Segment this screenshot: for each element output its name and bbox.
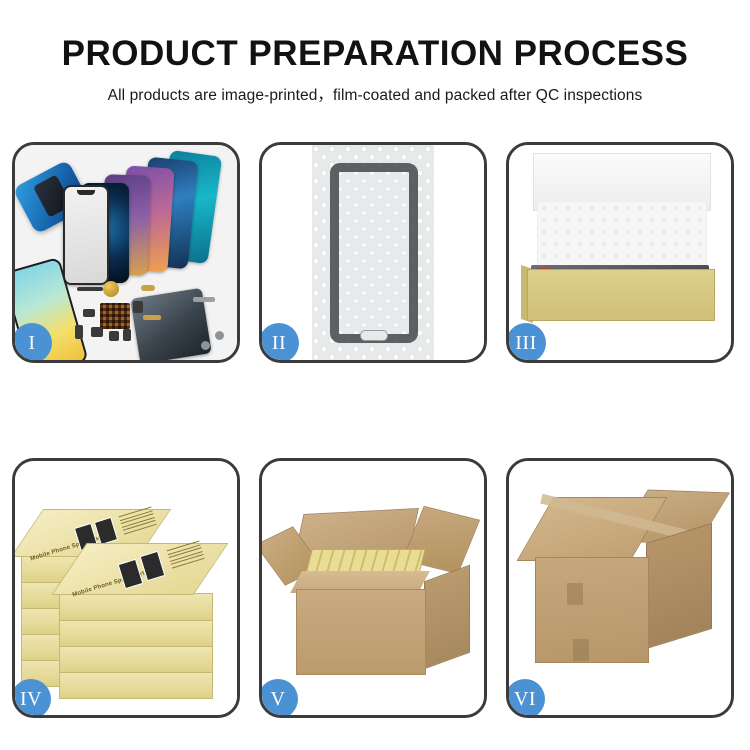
connector-grid (100, 303, 130, 329)
step-badge-4: IV (12, 679, 51, 718)
process-step-6[interactable]: VI (506, 458, 734, 718)
page-subtitle: All products are image-printed，film-coat… (0, 73, 750, 105)
carton-front-face (296, 589, 426, 675)
bubble-wrap-sheet (312, 145, 434, 360)
sealed-carton-side (646, 523, 712, 649)
carton-side-face (424, 565, 470, 670)
process-step-4[interactable]: Mobile Phone Spare Parts Mobile Phone Sp… (12, 458, 240, 718)
process-step-3[interactable]: III (506, 142, 734, 363)
process-step-2[interactable]: II (259, 142, 487, 363)
header: PRODUCT PREPARATION PROCESS All products… (0, 0, 750, 105)
step-2-photo (262, 145, 484, 360)
kraft-box-tray (527, 269, 715, 321)
step-badge-3: III (506, 323, 546, 363)
gold-component (103, 281, 119, 297)
page-title: PRODUCT PREPARATION PROCESS (0, 0, 750, 73)
product-preparation-infographic: PRODUCT PREPARATION PROCESS All products… (0, 0, 750, 750)
step-badge-6: VI (506, 679, 545, 718)
step-1-photo (15, 145, 237, 360)
step-6-photo (509, 461, 731, 715)
process-step-grid: I II III (12, 142, 738, 720)
box-stack: Mobile Phone Spare Parts Mobile Phone Sp… (21, 483, 233, 697)
step-badge-1: I (12, 323, 52, 363)
step-badge-5: V (259, 679, 298, 718)
step-4-photo: Mobile Phone Spare Parts Mobile Phone Sp… (15, 461, 237, 715)
sealed-carton-front (535, 557, 649, 663)
step-3-photo (509, 145, 731, 360)
carton-hand-hole-1 (567, 583, 583, 605)
step-badge-2: II (259, 323, 299, 363)
white-foam-liner (537, 201, 707, 275)
process-step-5[interactable]: V (259, 458, 487, 718)
wrapped-phone-screen (330, 163, 418, 343)
process-step-1[interactable]: I (12, 142, 240, 363)
phone-screen-1 (63, 185, 109, 285)
step-5-photo (262, 461, 484, 715)
carton-hand-hole-2 (573, 639, 589, 661)
